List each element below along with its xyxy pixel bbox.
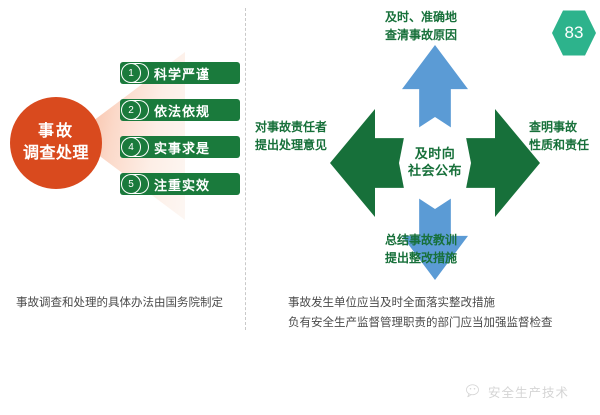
number-badge-wrap: 2 <box>120 99 148 121</box>
item-label: 实事求是 <box>154 138 210 157</box>
caption-top-line-1: 及时、准确地 <box>385 8 457 26</box>
number-badge-wrap: 5 <box>120 173 148 195</box>
caption-top-line-2: 查清事故原因 <box>385 26 457 44</box>
number-arc-icon <box>132 100 149 120</box>
item-label: 科学严谨 <box>154 64 210 83</box>
caption-bottom: 总结事故教训 提出整改措施 <box>385 231 457 267</box>
diagram-hub-octagon: 及时向 社会公布 <box>399 117 471 209</box>
right-footer-line-2: 负有安全生产监督管理职责的部门应当加强监督检查 <box>288 313 553 333</box>
list-item[interactable]: 2 依法依规 <box>120 99 240 121</box>
caption-bottom-line-2: 提出整改措施 <box>385 249 457 267</box>
list-item[interactable]: 5 注重实效 <box>120 173 240 195</box>
caption-right-line-2: 性质和责任 <box>529 136 589 154</box>
caption-left: 对事故责任者 提出处理意见 <box>255 118 327 154</box>
left-footer-note: 事故调查和处理的具体办法由国务院制定 <box>16 293 223 313</box>
number-arc-icon <box>132 137 149 157</box>
caption-left-line-2: 提出处理意见 <box>255 136 327 154</box>
principle-bar-list: 1 科学严谨 2 依法依规 4 实事求是 5 注重实效 <box>120 62 240 210</box>
number-badge-wrap: 4 <box>120 136 148 158</box>
caption-right-line-1: 查明事故 <box>529 118 589 136</box>
caption-right: 查明事故 性质和责任 <box>529 118 589 154</box>
caption-top: 及时、准确地 查清事故原因 <box>385 8 457 44</box>
caption-bottom-line-1: 总结事故教训 <box>385 231 457 249</box>
list-item[interactable]: 4 实事求是 <box>120 136 240 158</box>
circle-line-1: 事故 <box>38 121 74 143</box>
number-arc-icon <box>132 63 149 83</box>
right-footer-note: 事故发生单位应当及时全面落实整改措施 负有安全生产监督管理职责的部门应当加强监督… <box>288 293 553 333</box>
watermark: 安全生产技术 <box>466 382 569 401</box>
list-item[interactable]: 1 科学严谨 <box>120 62 240 84</box>
page-number: 83 <box>565 23 584 43</box>
item-label: 依法依规 <box>154 101 210 120</box>
accident-investigation-circle: 事故 调查处理 <box>10 97 102 189</box>
circle-line-2: 调查处理 <box>23 143 89 165</box>
right-footer-line-1: 事故发生单位应当及时全面落实整改措施 <box>288 293 553 313</box>
hub-line-1: 及时向 <box>415 146 456 163</box>
number-badge-wrap: 1 <box>120 62 148 84</box>
item-label: 注重实效 <box>154 175 210 194</box>
watermark-text: 安全生产技术 <box>488 382 569 401</box>
vertical-dashed-divider <box>245 8 246 330</box>
page-number-hexagon-badge: 83 <box>552 9 596 57</box>
slide-canvas: 事故 调查处理 1 科学严谨 2 依法依规 4 实事求是 <box>0 0 600 415</box>
caption-left-line-1: 对事故责任者 <box>255 118 327 136</box>
number-arc-icon <box>132 174 149 194</box>
hub-line-2: 社会公布 <box>408 163 462 180</box>
wechat-icon <box>466 384 483 399</box>
